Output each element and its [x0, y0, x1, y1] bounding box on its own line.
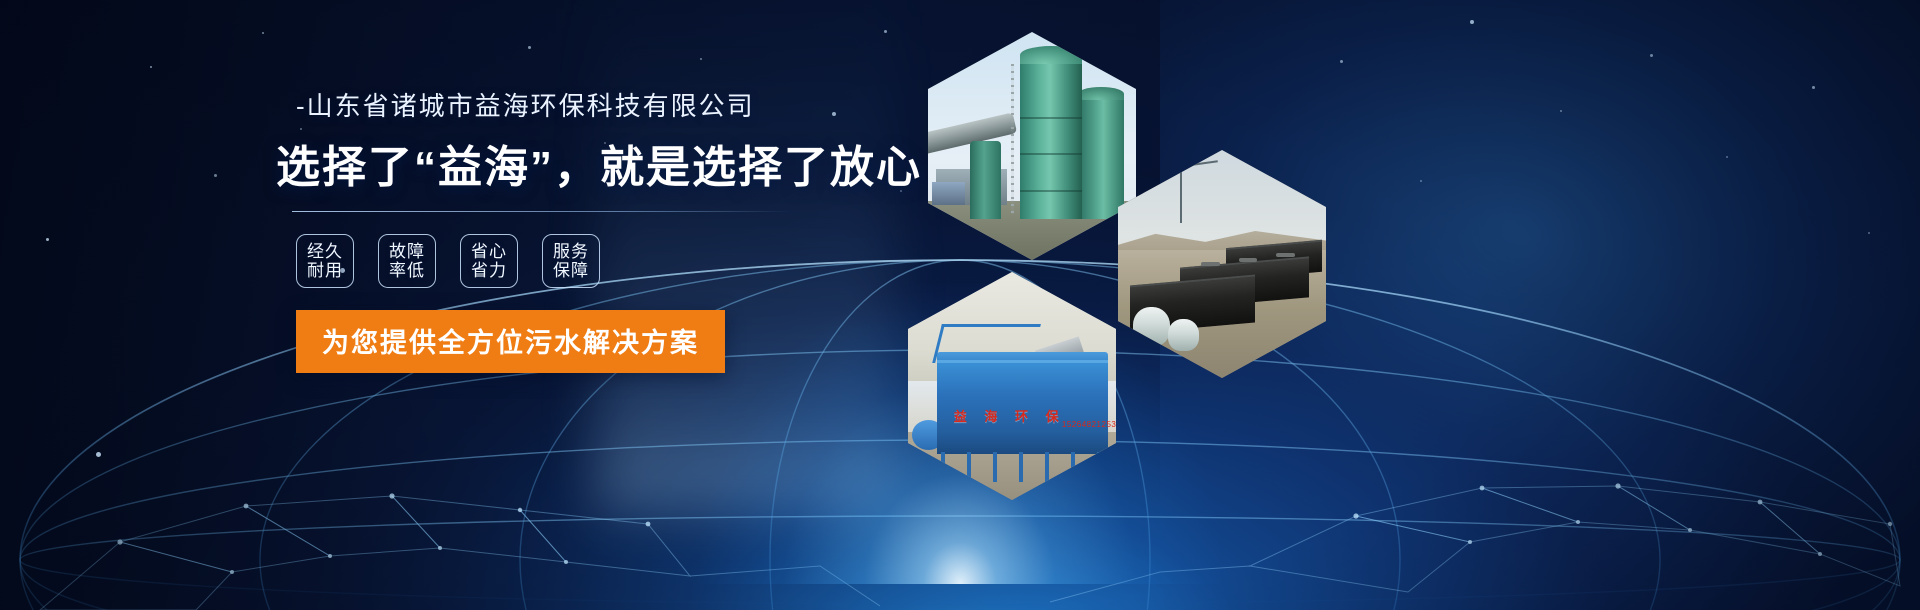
feature-badge-durable[interactable]: 经久 耐用	[296, 234, 354, 288]
feature-badge-service[interactable]: 服务 保障	[542, 234, 600, 288]
divider	[292, 211, 792, 212]
badge-line-2: 省力	[471, 261, 507, 280]
cta-button[interactable]: 为您提供全方位污水解决方案	[296, 310, 725, 373]
badge-line-2: 耐用	[307, 261, 343, 280]
badge-line-2: 率低	[389, 261, 425, 280]
badge-line-1: 故障	[389, 242, 425, 261]
badge-line-1: 服务	[553, 242, 589, 261]
badge-line-1: 省心	[471, 242, 507, 261]
photo-hex-flotation-machine[interactable]: 益 海 环 保 15264821253	[0, 0, 208, 228]
hero-copy: -山东省诸城市益海环保科技有限公司 选择了“益海”，就是选择了放心 经久 耐用 …	[276, 86, 896, 373]
company-subtitle: -山东省诸城市益海环保科技有限公司	[296, 86, 896, 123]
feature-badge-low-failure[interactable]: 故障 率低	[378, 234, 436, 288]
machine-phone-text: 15264821253	[1062, 420, 1116, 429]
badge-line-2: 保障	[553, 261, 589, 280]
feature-badge-effortless[interactable]: 省心 省力	[460, 234, 518, 288]
feature-badge-list: 经久 耐用 故障 率低 省心 省力 服务 保障	[296, 234, 896, 288]
hero-banner: -山东省诸城市益海环保科技有限公司 选择了“益海”，就是选择了放心 经久 耐用 …	[0, 0, 1920, 610]
badge-line-1: 经久	[307, 242, 343, 261]
page-title: 选择了“益海”，就是选择了放心	[276, 131, 896, 195]
